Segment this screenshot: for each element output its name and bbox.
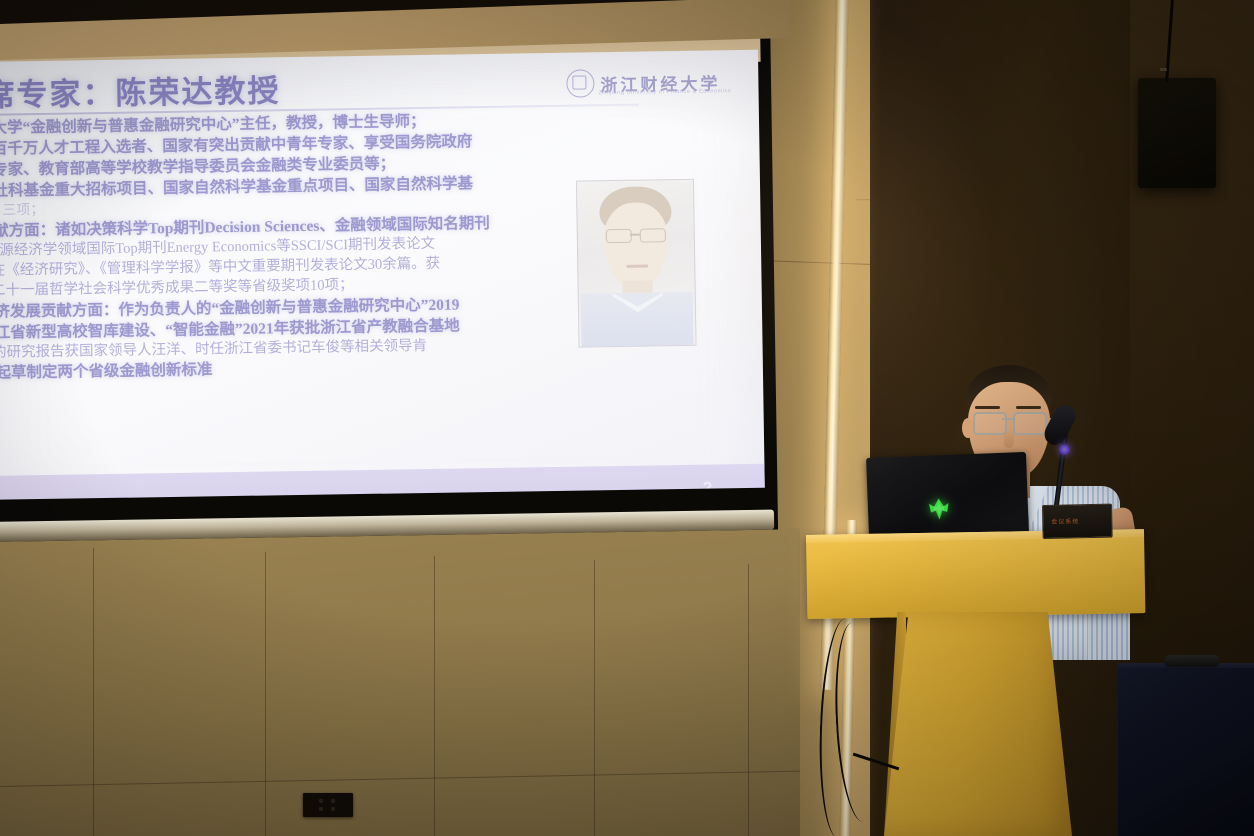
- navy-table: [1118, 668, 1254, 836]
- presentation-photo-scene: 首席专家：陈荣达教授 浙江财经大学 Zhejiang University of…: [0, 0, 1254, 836]
- speaker-eyebrow-left: [975, 406, 1000, 409]
- projection-screen-surface: 首席专家：陈荣达教授 浙江财经大学 Zhejiang University of…: [0, 50, 765, 532]
- wall-seam: [434, 556, 435, 836]
- podium-base: [884, 612, 1072, 836]
- speaker-eyebrow-right: [1016, 406, 1041, 409]
- professor-portrait-photo: [576, 179, 697, 348]
- wall-seam: [265, 552, 266, 836]
- wall-seam: [594, 560, 595, 836]
- speaker-nose: [1004, 430, 1014, 448]
- university-logo-en: Zhejiang University of Finance & Economi…: [599, 88, 732, 96]
- podium-control-display[interactable]: 会议系统: [1042, 504, 1113, 539]
- slide-title: 首席专家：陈荣达教授: [0, 65, 281, 115]
- portrait-glasses-bridge: [630, 234, 640, 236]
- wall-mounted-speaker: [1138, 78, 1216, 188]
- portrait-face: [603, 202, 668, 287]
- speaker-glasses-left-lens: [973, 412, 1007, 435]
- portrait-mouth: [626, 264, 648, 267]
- portrait-glasses-left: [606, 229, 632, 243]
- table-object: [1164, 655, 1220, 667]
- portrait-shirt: [581, 292, 694, 347]
- university-logo: 浙江财经大学 Zhejiang University of Finance & …: [566, 62, 735, 103]
- microphone-indicator-light: [1059, 444, 1070, 455]
- speaker-bracket-highlight: [1160, 68, 1167, 71]
- portrait-glasses-right: [640, 228, 666, 242]
- podium-display-text: 会议系统: [1051, 516, 1079, 526]
- wall-seam: [748, 564, 749, 836]
- speaker-glasses-right-lens: [1013, 412, 1047, 435]
- speaker-glasses-bridge: [1002, 418, 1014, 420]
- slide-content: 首席专家：陈荣达教授 浙江财经大学 Zhejiang University of…: [0, 50, 765, 532]
- slide-body-text: 江财经大学“金融创新与普惠金融研究中心”主任，教授，博士生导师； 家国家百千万人…: [0, 108, 589, 385]
- university-seal-icon: [566, 69, 594, 97]
- wall-seam: [93, 548, 94, 836]
- podium-top-surface: [806, 529, 1145, 619]
- wall-outlet-plate: [303, 793, 353, 817]
- razer-snake-logo: [922, 495, 957, 522]
- lower-tan-wall: [0, 528, 800, 836]
